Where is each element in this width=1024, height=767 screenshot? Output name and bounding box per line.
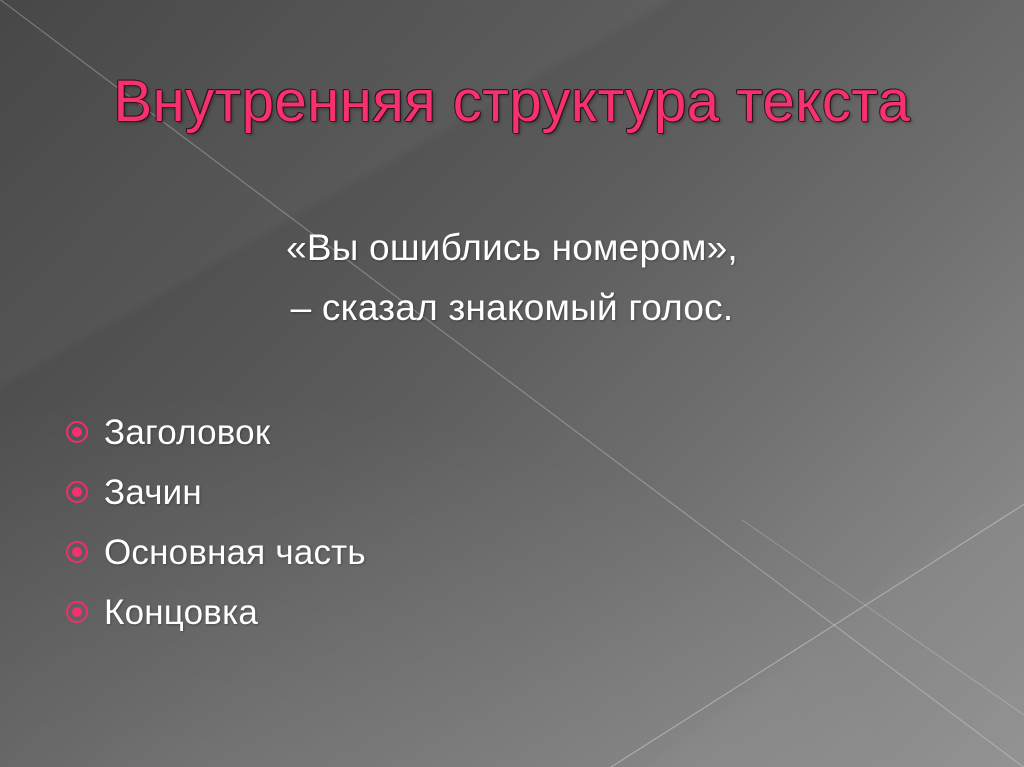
target-bullet-icon (66, 601, 88, 623)
slide-bullet-list: Заголовок Зачин Основная часть Концовка (66, 402, 926, 642)
target-bullet-icon (66, 481, 88, 503)
slide-title-container: Внутренняя структура текста (0, 72, 1024, 133)
presentation-slide: Внутренняя структура текста «Вы ошиблись… (0, 0, 1024, 767)
list-item: Зачин (66, 462, 926, 522)
list-item: Заголовок (66, 402, 926, 462)
bullet-item-label: Концовка (104, 595, 258, 630)
list-item: Основная часть (66, 522, 926, 582)
bullet-item-label: Заголовок (104, 415, 270, 450)
target-bullet-icon (66, 421, 88, 443)
slide-subtitle-line-2: – сказал знакомый голос. (0, 278, 1024, 338)
target-bullet-icon (66, 541, 88, 563)
slide-subtitle-line-1: «Вы ошиблись номером», (0, 218, 1024, 278)
bullet-item-label: Зачин (104, 475, 202, 510)
list-item: Концовка (66, 582, 926, 642)
slide-subtitle-container: «Вы ошиблись номером», – сказал знакомый… (0, 218, 1024, 338)
slide-title: Внутренняя структура текста (113, 72, 910, 133)
bullet-item-label: Основная часть (104, 535, 366, 570)
